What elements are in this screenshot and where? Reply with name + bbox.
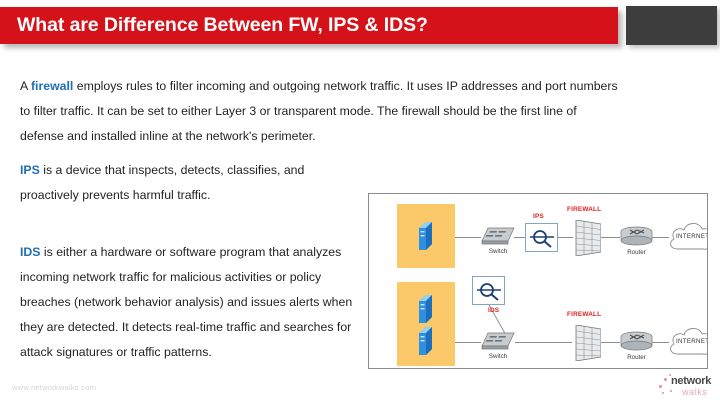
slide-title-bar: What are Difference Between FW, IPS & ID…: [0, 7, 618, 44]
logo-node-dot: [664, 378, 667, 381]
internet-label: INTERNET: [676, 233, 708, 240]
logo-text-walks: walks: [682, 387, 708, 397]
logo-node-dot: [659, 385, 662, 388]
ids-label: IDS: [488, 307, 499, 314]
keyword-ips: IPS: [20, 163, 40, 177]
paragraph-firewall-body: employs rules to filter incoming and out…: [20, 79, 618, 143]
page-title: What are Difference Between FW, IPS & ID…: [0, 14, 428, 37]
ips-sensor-box: [525, 223, 558, 252]
paragraph-ips: IPS is a device that inspects, detects, …: [20, 158, 350, 208]
paragraph-ips-body: is a device that inspects, detects, clas…: [20, 163, 304, 202]
switch-label: Switch: [481, 248, 515, 255]
ids-sensor-box: [472, 276, 505, 305]
diagram-row-ips: Switch IPS FIREWALL: [369, 194, 707, 280]
switch-icon: [481, 226, 515, 246]
server-icon: [418, 221, 433, 251]
link-server-switch: [455, 342, 481, 343]
header-corner-block: [626, 6, 717, 45]
router-icon: [620, 226, 653, 247]
link-switch-ips: [514, 237, 525, 238]
internet-label: INTERNET: [676, 338, 708, 345]
switch-label: Switch: [481, 353, 515, 360]
brand-logo: network walks: [657, 374, 715, 400]
server-icon: [418, 326, 433, 356]
logo-node-dot: [662, 392, 664, 394]
paragraph-ids: IDS is either a hardware or software pro…: [20, 240, 355, 365]
keyword-firewall: firewall: [31, 79, 73, 93]
paragraph-ids-body: is either a hardware or software program…: [20, 245, 352, 359]
router-label: Router: [620, 249, 653, 256]
ips-label: IPS: [533, 213, 544, 220]
link-firewall-router: [600, 237, 620, 238]
firewall-label: FIREWALL: [567, 311, 601, 318]
link-ips-firewall: [558, 237, 573, 238]
paragraph-firewall-lead: A: [20, 79, 31, 93]
switch-icon: [481, 331, 515, 351]
network-topology-diagram: Switch IPS FIREWALL: [368, 193, 708, 369]
firewall-label: FIREWALL: [567, 206, 601, 213]
keyword-ids: IDS: [20, 245, 41, 259]
link-switch-firewall: [515, 342, 572, 343]
firewall-icon: [572, 325, 601, 361]
link-server-switch: [455, 237, 481, 238]
link-firewall-router: [600, 342, 620, 343]
router-label: Router: [620, 354, 653, 361]
diagram-row-ids: IDS Switch FIREWALL: [369, 280, 707, 369]
firewall-icon: [572, 220, 601, 256]
router-icon: [620, 331, 653, 352]
server-icon: [418, 294, 433, 324]
logo-text-network: network: [671, 375, 711, 387]
ids-magnifier-icon: [476, 280, 502, 302]
logo-node-dot: [670, 390, 672, 392]
footer-website-url: www.networkwalks.com: [12, 383, 96, 392]
paragraph-firewall: A firewall employs rules to filter incom…: [20, 74, 623, 149]
ips-magnifier-icon: [529, 227, 555, 249]
